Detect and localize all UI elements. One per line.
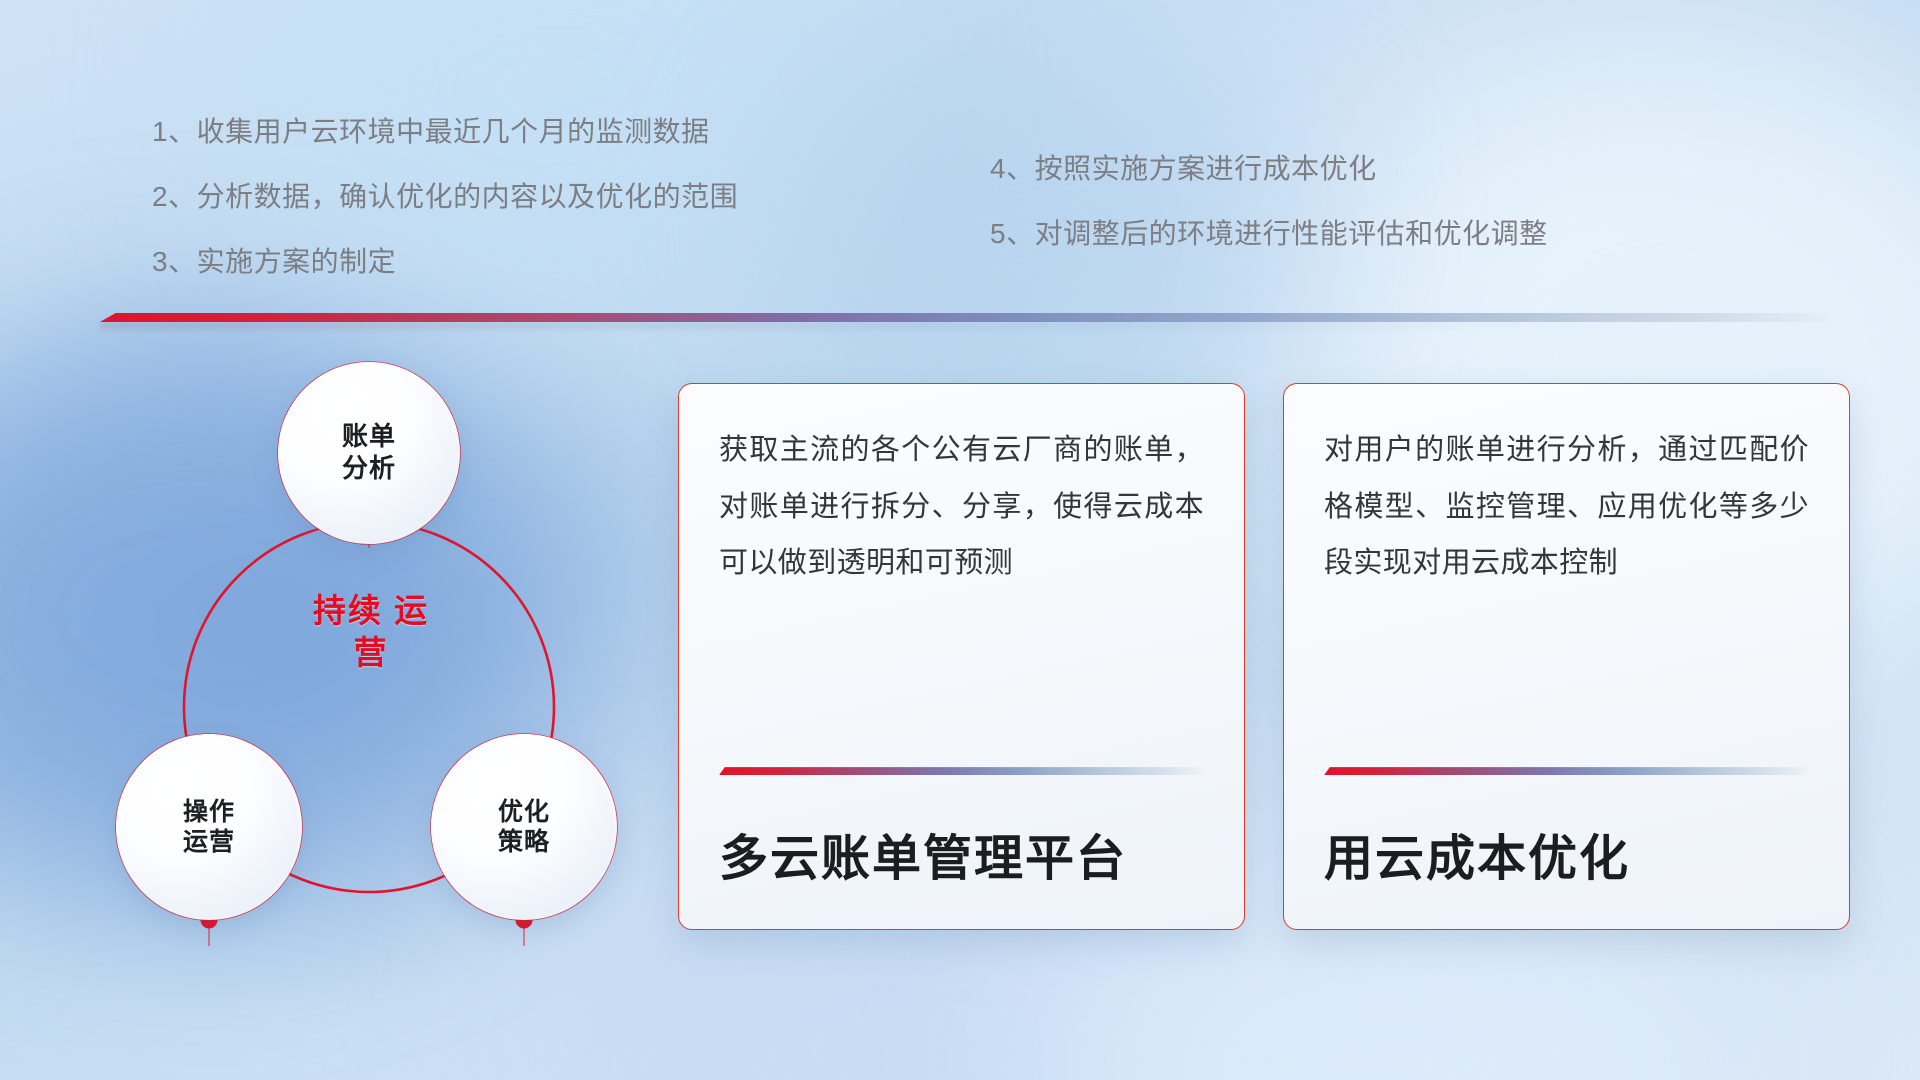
slide-canvas: 1、收集用户云环境中最近几个月的监测数据 2、分析数据，确认优化的内容以及优化的… [0, 0, 1920, 1080]
steps-left-column: 1、收集用户云环境中最近几个月的监测数据 2、分析数据，确认优化的内容以及优化的… [152, 118, 738, 276]
card-cloud-cost-optimization[interactable]: 对用户的账单进行分析，通过匹配价格模型、监控管理、应用优化等多少段实现对用云成本… [1283, 383, 1850, 930]
step-item-1: 1、收集用户云环境中最近几个月的监测数据 [152, 118, 738, 146]
bubble-bill-analysis-line1: 账单 [342, 421, 396, 453]
bubble-optimization-strategy[interactable]: 优化 策略 [431, 734, 617, 920]
bubble-operations-line2: 运营 [183, 827, 235, 858]
bubble-bill-analysis[interactable]: 账单 分析 [278, 362, 460, 544]
divider-shadow [100, 322, 1700, 329]
continuous-operation-diagram: 账单 分析 操作 运营 优化 策略 持续 运营 [96, 352, 656, 952]
card-right-inner: 对用户的账单进行分析，通过匹配价格模型、监控管理、应用优化等多少段实现对用云成本… [1284, 384, 1849, 929]
bubble-operations-line1: 操作 [183, 797, 235, 828]
step-item-4: 4、按照实施方案进行成本优化 [990, 155, 1548, 183]
card-left-inner: 获取主流的各个公有云厂商的账单，对账单进行拆分、分享，使得云成本可以做到透明和可… [679, 384, 1244, 929]
bubble-optimization-strategy-line2: 策略 [498, 827, 550, 858]
section-divider [100, 313, 1830, 322]
card-left-title: 多云账单管理平台 [719, 833, 1204, 887]
diagram-center-label: 持续 运营 [301, 590, 441, 674]
card-right-body: 对用户的账单进行分析，通过匹配价格模型、监控管理、应用优化等多少段实现对用云成本… [1324, 422, 1809, 592]
step-item-2: 2、分析数据，确认优化的内容以及优化的范围 [152, 183, 738, 211]
card-left-rule [719, 767, 1204, 775]
bubble-optimization-strategy-line1: 优化 [498, 797, 550, 828]
card-right-rule [1324, 767, 1809, 775]
card-multicloud-billing-platform[interactable]: 获取主流的各个公有云厂商的账单，对账单进行拆分、分享，使得云成本可以做到透明和可… [678, 383, 1245, 930]
card-left-body: 获取主流的各个公有云厂商的账单，对账单进行拆分、分享，使得云成本可以做到透明和可… [719, 422, 1204, 592]
step-item-5: 5、对调整后的环境进行性能评估和优化调整 [990, 220, 1548, 248]
steps-right-column: 4、按照实施方案进行成本优化 5、对调整后的环境进行性能评估和优化调整 [990, 155, 1548, 248]
bubble-operations[interactable]: 操作 运营 [116, 734, 302, 920]
bubble-bill-analysis-line2: 分析 [342, 453, 396, 485]
center-label-line1: 持续 [313, 592, 383, 629]
step-item-3: 3、实施方案的制定 [152, 248, 738, 276]
card-right-title: 用云成本优化 [1324, 833, 1809, 887]
